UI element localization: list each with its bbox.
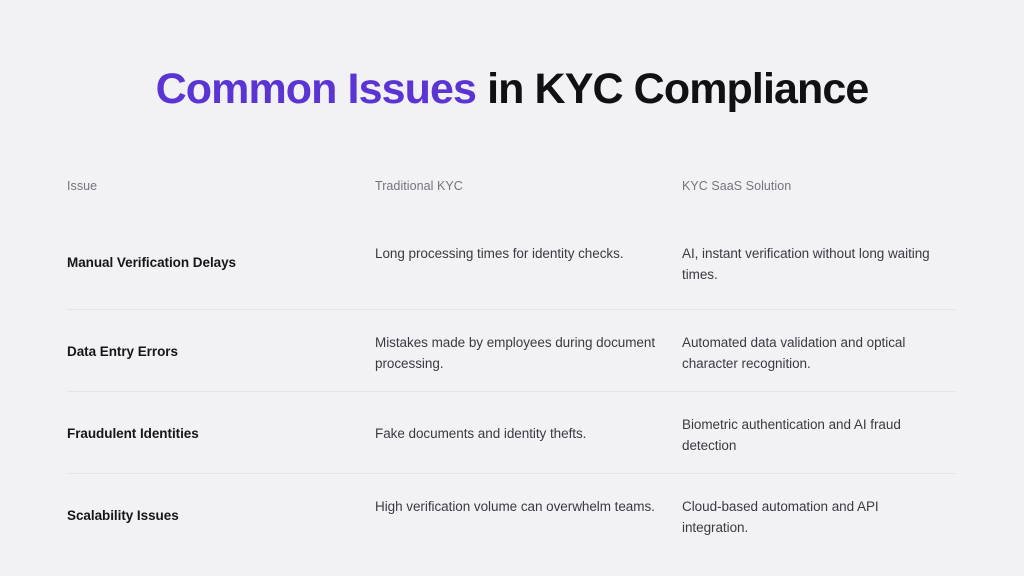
cell-traditional-kyc: Mistakes made by employees during docume…	[375, 327, 682, 374]
table-row: Scalability Issues High verification vol…	[67, 473, 956, 555]
cell-traditional-kyc: High verification volume can overwhelm t…	[375, 491, 682, 518]
page-title: Common Issues in KYC Compliance	[0, 66, 1024, 113]
table-row: Fraudulent Identities Fake documents and…	[67, 391, 956, 473]
title-accent-part: Common Issues	[156, 65, 476, 113]
comparison-table: Issue Traditional KYC KYC SaaS Solution …	[67, 178, 956, 555]
cell-kyc-saas-solution: AI, instant verification without long wa…	[682, 238, 956, 285]
slide-canvas: Common Issues in KYC Compliance Issue Tr…	[0, 0, 1024, 576]
table-row: Manual Verification Delays Long processi…	[67, 234, 956, 309]
cell-issue-name: Manual Verification Delays	[67, 238, 375, 273]
column-header-kyc-saas-solution: KYC SaaS Solution	[682, 178, 956, 194]
table-row: Data Entry Errors Mistakes made by emplo…	[67, 309, 956, 391]
cell-kyc-saas-solution: Biometric authentication and AI fraud de…	[682, 409, 956, 456]
cell-issue-name: Data Entry Errors	[67, 327, 375, 362]
cell-kyc-saas-solution: Cloud-based automation and API integrati…	[682, 491, 956, 538]
column-header-issue: Issue	[67, 178, 375, 194]
cell-kyc-saas-solution: Automated data validation and optical ch…	[682, 327, 956, 374]
cell-traditional-kyc: Fake documents and identity thefts.	[375, 409, 682, 445]
cell-issue-name: Scalability Issues	[67, 491, 375, 526]
cell-traditional-kyc: Long processing times for identity check…	[375, 238, 682, 265]
title-text: Common Issues in KYC Compliance	[0, 66, 1024, 113]
column-header-traditional-kyc: Traditional KYC	[375, 178, 682, 194]
cell-issue-name: Fraudulent Identities	[67, 409, 375, 444]
title-rest-part: in KYC Compliance	[476, 65, 868, 113]
table-header-row: Issue Traditional KYC KYC SaaS Solution	[67, 178, 956, 234]
